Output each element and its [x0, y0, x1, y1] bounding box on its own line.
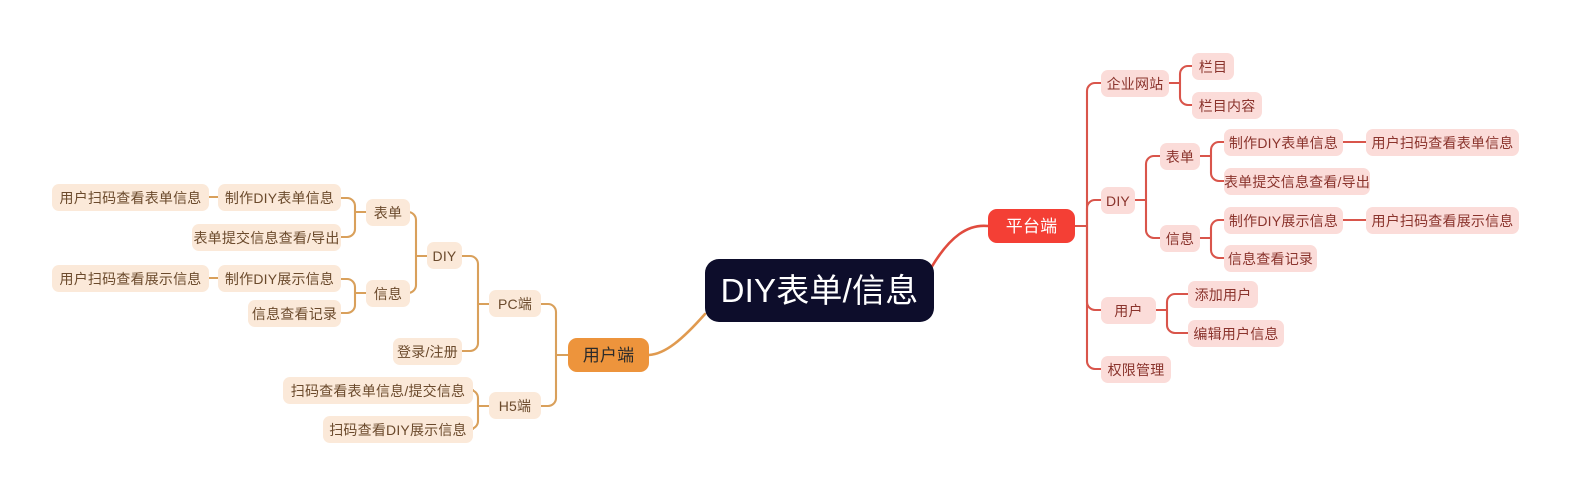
node-enterprise-site[interactable]: 企业网站	[1101, 70, 1169, 97]
node-h5-form-scan-label: 扫码查看表单信息/提交信息	[291, 384, 466, 398]
node-right-user[interactable]: 用户	[1101, 297, 1156, 324]
node-h5-diy-scan[interactable]: 扫码查看DIY展示信息	[323, 416, 473, 443]
node-h5-client[interactable]: H5端	[489, 392, 541, 419]
node-left-form-export-label: 表单提交信息查看/导出	[193, 231, 339, 245]
node-right-info-record-label: 信息查看记录	[1228, 252, 1313, 266]
link-root-to-right-root	[931, 226, 988, 268]
node-edit-user[interactable]: 编辑用户信息	[1188, 320, 1284, 347]
link-root-to-left-root	[649, 314, 705, 355]
node-right-info-scan-label: 用户扫码查看展示信息	[1372, 214, 1514, 228]
node-left-form-scan-label: 用户扫码查看表单信息	[60, 191, 202, 205]
node-left-info[interactable]: 信息	[366, 280, 410, 307]
link-pc-to-login	[462, 304, 478, 351]
node-right-make-form-label: 制作DIY表单信息	[1229, 136, 1338, 150]
node-column-content-label: 栏目内容	[1199, 99, 1256, 113]
branch-node-user-client-label: 用户端	[583, 347, 635, 364]
node-pc-client[interactable]: PC端	[489, 290, 541, 317]
node-h5-form-scan[interactable]: 扫码查看表单信息/提交信息	[283, 377, 473, 404]
branch-node-platform[interactable]: 平台端	[988, 209, 1075, 243]
link-leftroot-to-pc	[541, 304, 556, 355]
node-pc-client-label: PC端	[498, 297, 532, 311]
node-right-make-info[interactable]: 制作DIY展示信息	[1224, 207, 1343, 234]
node-right-form-scan-label: 用户扫码查看表单信息	[1372, 136, 1514, 150]
link-rdiy-to-info	[1146, 200, 1160, 238]
node-left-form-scan[interactable]: 用户扫码查看表单信息	[52, 184, 209, 211]
link-ruser-to-add	[1167, 294, 1188, 310]
link-rightroot-to-perm	[1087, 226, 1101, 369]
node-right-form-export[interactable]: 表单提交信息查看/导出	[1224, 168, 1370, 195]
link-info-to-makeinfo	[341, 279, 355, 293]
node-left-make-info[interactable]: 制作DIY展示信息	[218, 265, 341, 292]
node-left-form-label: 表单	[374, 206, 402, 220]
node-left-form-export[interactable]: 表单提交信息查看/导出	[192, 224, 341, 251]
link-rightroot-to-diy	[1087, 200, 1101, 226]
link-rdiy-to-form	[1146, 156, 1160, 200]
link-rinfo-to-record	[1211, 238, 1224, 258]
node-left-make-form-label: 制作DIY表单信息	[225, 191, 334, 205]
link-form-to-makeform	[341, 198, 355, 212]
mindmap-canvas: DIY表单/信息 用户端 PC端 H5端 DIY 登录/注册 表单 信息 制作D…	[0, 0, 1583, 497]
node-right-form[interactable]: 表单	[1160, 143, 1200, 170]
node-h5-diy-scan-label: 扫码查看DIY展示信息	[329, 423, 467, 437]
node-right-make-info-label: 制作DIY展示信息	[1229, 214, 1338, 228]
root-node-label: DIY表单/信息	[721, 274, 919, 307]
node-h5-client-label: H5端	[499, 399, 532, 413]
link-site-to-column	[1180, 66, 1192, 83]
node-permission-management[interactable]: 权限管理	[1101, 356, 1171, 383]
link-rightroot-to-user	[1087, 226, 1101, 310]
link-pc-to-diy	[462, 256, 478, 304]
node-right-info-label: 信息	[1166, 232, 1194, 246]
node-right-info-scan[interactable]: 用户扫码查看展示信息	[1366, 207, 1519, 234]
link-form-to-export	[341, 212, 355, 237]
node-left-form[interactable]: 表单	[366, 199, 410, 226]
node-right-diy-label: DIY	[1106, 194, 1130, 208]
node-right-diy[interactable]: DIY	[1101, 187, 1135, 214]
link-site-to-columncontent	[1180, 83, 1192, 105]
link-rinfo-to-make	[1211, 220, 1224, 238]
node-left-info-record[interactable]: 信息查看记录	[248, 300, 341, 327]
link-info-to-record	[341, 293, 355, 313]
link-leftroot-to-h5	[541, 355, 556, 406]
node-left-info-scan-label: 用户扫码查看展示信息	[60, 272, 202, 286]
node-left-info-record-label: 信息查看记录	[252, 307, 337, 321]
node-right-info-record[interactable]: 信息查看记录	[1224, 245, 1317, 272]
node-left-diy-label: DIY	[433, 249, 457, 263]
branch-node-user-client[interactable]: 用户端	[568, 338, 649, 372]
node-left-info-label: 信息	[374, 287, 402, 301]
branch-node-platform-label: 平台端	[1006, 218, 1058, 235]
node-left-diy[interactable]: DIY	[427, 242, 462, 269]
node-right-user-label: 用户	[1114, 304, 1142, 318]
root-node[interactable]: DIY表单/信息	[705, 259, 934, 322]
node-add-user[interactable]: 添加用户	[1188, 281, 1258, 308]
node-enterprise-site-label: 企业网站	[1107, 77, 1164, 91]
node-permission-management-label: 权限管理	[1108, 363, 1165, 377]
link-rform-to-export	[1211, 156, 1224, 181]
node-right-info[interactable]: 信息	[1160, 225, 1200, 252]
node-right-make-form[interactable]: 制作DIY表单信息	[1224, 129, 1343, 156]
node-left-make-info-label: 制作DIY展示信息	[225, 272, 334, 286]
node-right-form-export-label: 表单提交信息查看/导出	[1224, 175, 1370, 189]
node-column[interactable]: 栏目	[1192, 53, 1234, 80]
node-right-form-scan[interactable]: 用户扫码查看表单信息	[1366, 129, 1519, 156]
node-login-register-label: 登录/注册	[397, 345, 458, 359]
link-rform-to-make	[1211, 142, 1224, 156]
node-column-content[interactable]: 栏目内容	[1192, 92, 1262, 119]
node-login-register[interactable]: 登录/注册	[393, 338, 462, 365]
node-left-info-scan[interactable]: 用户扫码查看展示信息	[52, 265, 209, 292]
link-rightroot-to-site	[1087, 83, 1101, 226]
node-edit-user-label: 编辑用户信息	[1193, 327, 1278, 341]
node-left-make-form[interactable]: 制作DIY表单信息	[218, 184, 341, 211]
node-add-user-label: 添加用户	[1195, 288, 1252, 302]
node-column-label: 栏目	[1199, 60, 1227, 74]
link-ruser-to-edit	[1167, 310, 1188, 333]
node-right-form-label: 表单	[1166, 150, 1194, 164]
